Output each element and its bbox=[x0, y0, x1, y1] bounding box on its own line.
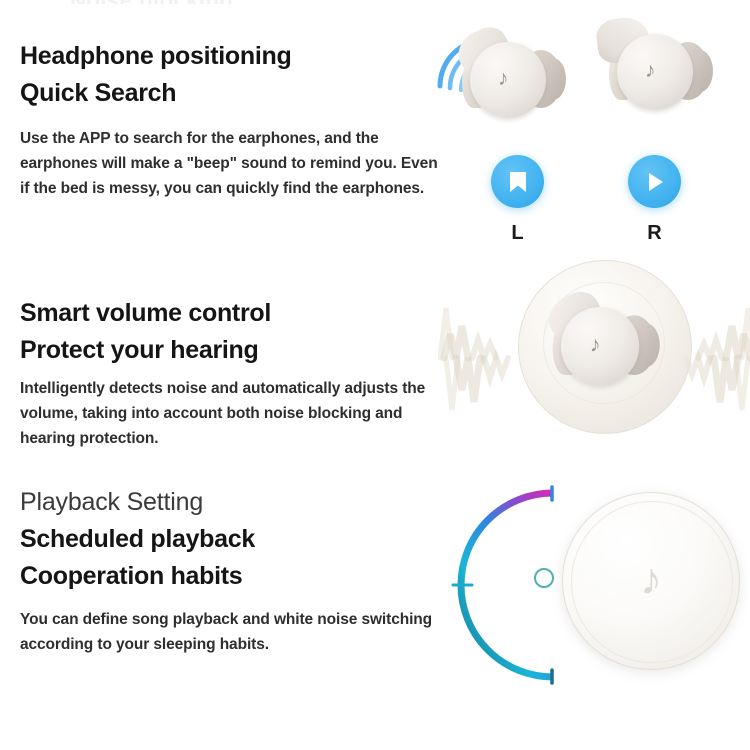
soundcore-logo-icon: ♪ bbox=[590, 334, 601, 356]
section-1-body: Use the APP to search for the earphones,… bbox=[20, 126, 440, 201]
sound-waveform-left-icon bbox=[438, 278, 516, 438]
section-3-copy: Playback Setting Scheduled playback Coop… bbox=[20, 485, 440, 657]
art-gradient-arc-charging-case: ♪ bbox=[450, 470, 750, 700]
earbud-right: ♪ bbox=[595, 20, 713, 115]
find-right-earbud-button[interactable] bbox=[628, 155, 681, 208]
section-3-heading-light: Playback Setting bbox=[20, 485, 440, 521]
section-2-body: Intelligently detects noise and automati… bbox=[20, 376, 440, 451]
section-2-heading-secondary: Protect your hearing bbox=[20, 332, 440, 369]
soundcore-logo-icon: ♪ bbox=[498, 68, 509, 89]
bookmark-icon bbox=[507, 170, 529, 194]
section-1-heading-secondary: Quick Search bbox=[20, 75, 440, 112]
section-3-heading-secondary: Cooperation habits bbox=[20, 558, 440, 595]
product-feature-page: Noise blocking Headphone positioning Qui… bbox=[0, 0, 750, 750]
section-headphone-positioning: Headphone positioning Quick Search Use t… bbox=[0, 0, 750, 265]
section-3-body: You can define song playback and white n… bbox=[20, 607, 440, 657]
section-1-heading-primary: Headphone positioning bbox=[20, 38, 440, 75]
section-1-copy: Headphone positioning Quick Search Use t… bbox=[20, 38, 440, 201]
soundcore-logo-icon: ♪ bbox=[645, 60, 656, 81]
section-playback-setting: Playback Setting Scheduled playback Coop… bbox=[0, 480, 750, 750]
play-icon bbox=[644, 170, 666, 194]
earbud-center: ♪ bbox=[538, 293, 660, 391]
section-3-heading-primary: Scheduled playback bbox=[20, 521, 440, 558]
art-earbud-bubble-waveforms: ♪ bbox=[440, 258, 750, 473]
section-smart-volume-control: Smart volume control Protect your hearin… bbox=[0, 265, 750, 480]
right-earbud-label: R bbox=[628, 222, 681, 245]
dial-indicator-ring[interactable] bbox=[534, 568, 554, 588]
find-left-earbud-button[interactable] bbox=[491, 155, 544, 208]
soundcore-logo-icon: ♪ bbox=[640, 558, 662, 602]
left-earbud-label: L bbox=[491, 222, 544, 245]
art-two-earbuds-search: ♪ ♪ L bbox=[430, 10, 740, 255]
section-2-heading-primary: Smart volume control bbox=[20, 295, 440, 332]
earbud-left: ♪ bbox=[448, 28, 566, 123]
section-2-copy: Smart volume control Protect your hearin… bbox=[20, 295, 440, 451]
charging-case: ♪ bbox=[562, 492, 740, 670]
